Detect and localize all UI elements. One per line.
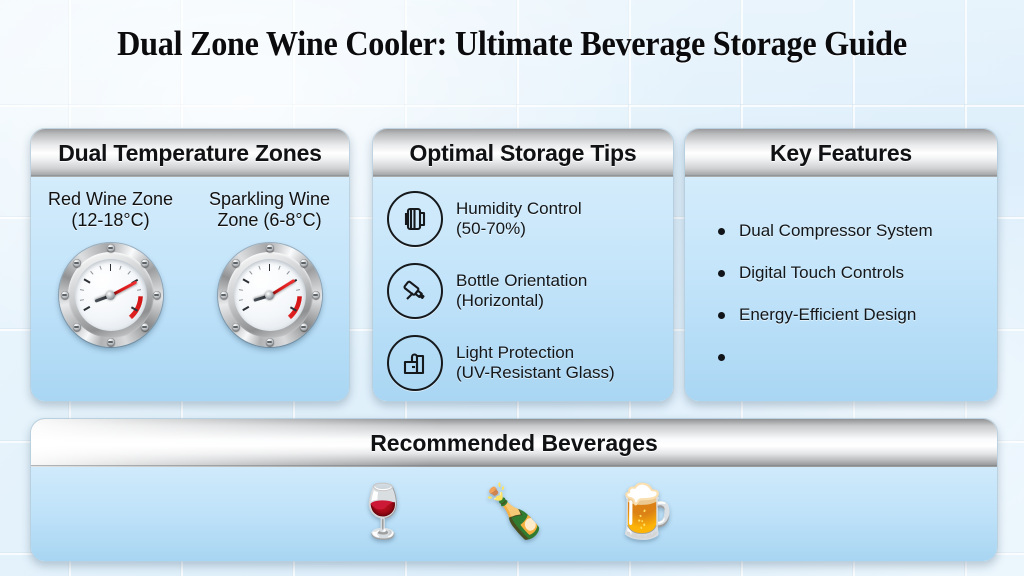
card-body: Red Wine Zone (12-18°C) (31, 177, 349, 401)
bottle-orientation-icon (387, 263, 443, 319)
card-body: Humidity Control (50-70%) (373, 177, 673, 401)
tip-line-1: Humidity Control (456, 199, 582, 219)
tip-label: Bottle Orientation (Horizontal) (456, 271, 587, 311)
feature-list-item: Digital Touch Controls (715, 263, 979, 283)
zone-range: Zone (6-8°C) (217, 210, 321, 231)
card-dual-temperature-zones: Dual Temperature Zones Red Wine Zone (12… (30, 128, 350, 402)
card-body: Dual Compressor System Digital Touch Con… (685, 177, 997, 401)
feature-list-item-empty (715, 347, 979, 355)
card-title: Dual Temperature Zones (58, 140, 322, 167)
card-header: Key Features (685, 129, 997, 177)
beer-mug-icon: 🍺 (612, 486, 677, 538)
banner-recommended-beverages: Recommended Beverages 🍷 🍾 🍺 (30, 418, 998, 562)
tip-line-2: (UV-Resistant Glass) (456, 363, 615, 383)
light-protection-icon (387, 335, 443, 391)
banner-body: 🍷 🍾 🍺 (31, 467, 997, 561)
zone-red-wine: Red Wine Zone (12-18°C) (31, 177, 190, 401)
card-title: Optimal Storage Tips (410, 140, 637, 167)
tip-line-2: (Horizontal) (456, 291, 587, 311)
tip-light-protection: Light Protection (UV-Resistant Glass) (387, 335, 659, 391)
banner-title: Recommended Beverages (370, 430, 658, 457)
card-header: Dual Temperature Zones (31, 129, 349, 177)
page-title: Dual Zone Wine Cooler: Ultimate Beverage… (41, 24, 983, 64)
zone-name: Red Wine Zone (48, 189, 173, 210)
card-optimal-storage-tips: Optimal Storage Tips Humidity Contr (372, 128, 674, 402)
card-header: Optimal Storage Tips (373, 129, 673, 177)
banner-header: Recommended Beverages (31, 419, 997, 467)
humidity-icon (387, 191, 443, 247)
zone-range: (12-18°C) (71, 210, 149, 231)
pressure-gauge-icon (218, 243, 322, 347)
feature-list-item: Energy-Efficient Design (715, 305, 979, 325)
card-title: Key Features (770, 140, 912, 167)
champagne-bottle-icon: 🍾 (482, 486, 547, 538)
zone-sparkling-wine: Sparkling Wine Zone (6-8°C) (190, 177, 349, 401)
pressure-gauge-icon (59, 243, 163, 347)
zone-name: Sparkling Wine (209, 189, 330, 210)
tip-label: Light Protection (UV-Resistant Glass) (456, 343, 615, 383)
tip-label: Humidity Control (50-70%) (456, 199, 582, 239)
card-key-features: Key Features Dual Compressor System Digi… (684, 128, 998, 402)
tip-line-2: (50-70%) (456, 219, 582, 239)
tip-line-1: Bottle Orientation (456, 271, 587, 291)
tip-bottle-orientation: Bottle Orientation (Horizontal) (387, 263, 659, 319)
infographic-canvas: Dual Zone Wine Cooler: Ultimate Beverage… (0, 0, 1024, 576)
wine-glass-and-bottle-icon: 🍷 (351, 486, 416, 538)
feature-list-item: Dual Compressor System (715, 221, 979, 241)
tip-line-1: Light Protection (456, 343, 615, 363)
tip-humidity-control: Humidity Control (50-70%) (387, 191, 659, 247)
